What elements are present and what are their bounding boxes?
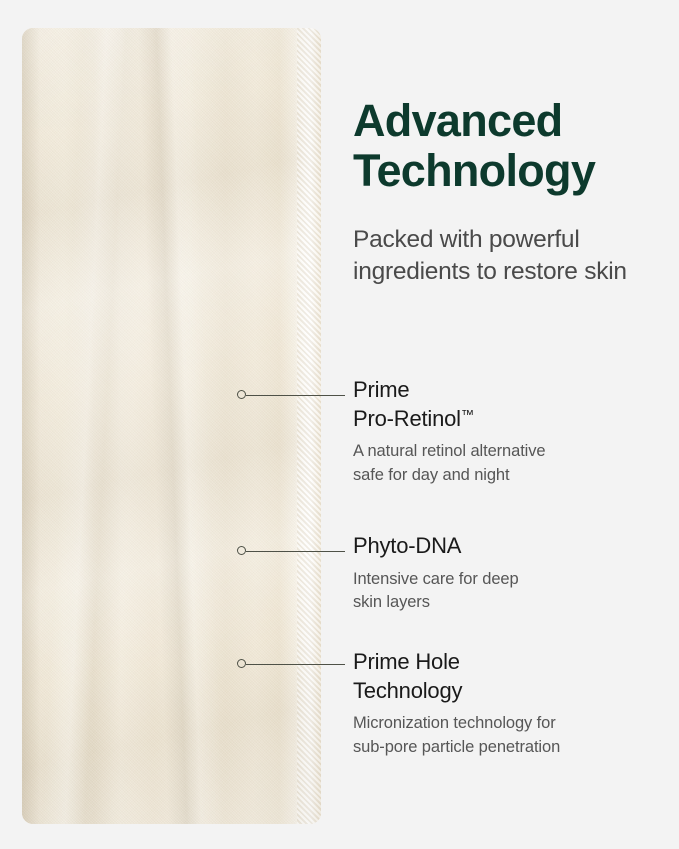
- feature-phyto-dna: Phyto-DNA Intensive care for deep skin l…: [353, 532, 653, 614]
- feature-description-line-1: A natural retinol alternative: [353, 440, 653, 463]
- text-column: Advanced Technology Packed with powerful…: [353, 0, 663, 849]
- feature-title-line-1: Prime: [353, 377, 409, 402]
- feature-title: Prime Hole Technology: [353, 648, 653, 705]
- feature-description-line-2: skin layers: [353, 591, 653, 614]
- feature-description: Micronization technology for sub-pore pa…: [353, 705, 653, 759]
- product-image: [22, 28, 321, 824]
- leader-stroke: [246, 551, 345, 552]
- feature-title-line-2: Technology: [353, 678, 462, 703]
- leader-stroke: [246, 395, 345, 396]
- leader-marker-icon: [237, 390, 246, 399]
- trademark-symbol: ™: [461, 407, 474, 422]
- product-vignette: [22, 28, 321, 824]
- leader-stroke: [246, 664, 345, 665]
- feature-description-line-2: safe for day and night: [353, 464, 653, 487]
- leader-line-prime-pro-retinol: [237, 390, 345, 401]
- feature-description-line-2: sub-pore particle penetration: [353, 736, 653, 759]
- page-subtitle: Packed with powerful ingredients to rest…: [353, 224, 653, 288]
- feature-prime-pro-retinol: Prime Pro-Retinol™ A natural retinol alt…: [353, 376, 653, 487]
- page-title-line-1: Advanced: [353, 96, 653, 146]
- feature-title: Phyto-DNA: [353, 532, 653, 561]
- feature-title-line-1: Phyto-DNA: [353, 533, 461, 558]
- feature-prime-hole-technology: Prime Hole Technology Micronization tech…: [353, 648, 653, 759]
- leader-line-phyto-dna: [237, 546, 345, 557]
- feature-description-line-1: Micronization technology for: [353, 712, 653, 735]
- leader-marker-icon: [237, 546, 246, 555]
- infographic-page: Advanced Technology Packed with powerful…: [0, 0, 679, 849]
- feature-title-line-1: Prime Hole: [353, 649, 460, 674]
- feature-description-line-1: Intensive care for deep: [353, 568, 653, 591]
- feature-description: A natural retinol alternative safe for d…: [353, 433, 653, 487]
- feature-title: Prime Pro-Retinol™: [353, 376, 653, 433]
- page-title-line-2: Technology: [353, 146, 653, 196]
- feature-title-line-2: Pro-Retinol: [353, 406, 461, 431]
- feature-description: Intensive care for deep skin layers: [353, 561, 653, 615]
- page-title: Advanced Technology: [353, 96, 653, 196]
- leader-line-prime-hole-technology: [237, 659, 345, 670]
- leader-marker-icon: [237, 659, 246, 668]
